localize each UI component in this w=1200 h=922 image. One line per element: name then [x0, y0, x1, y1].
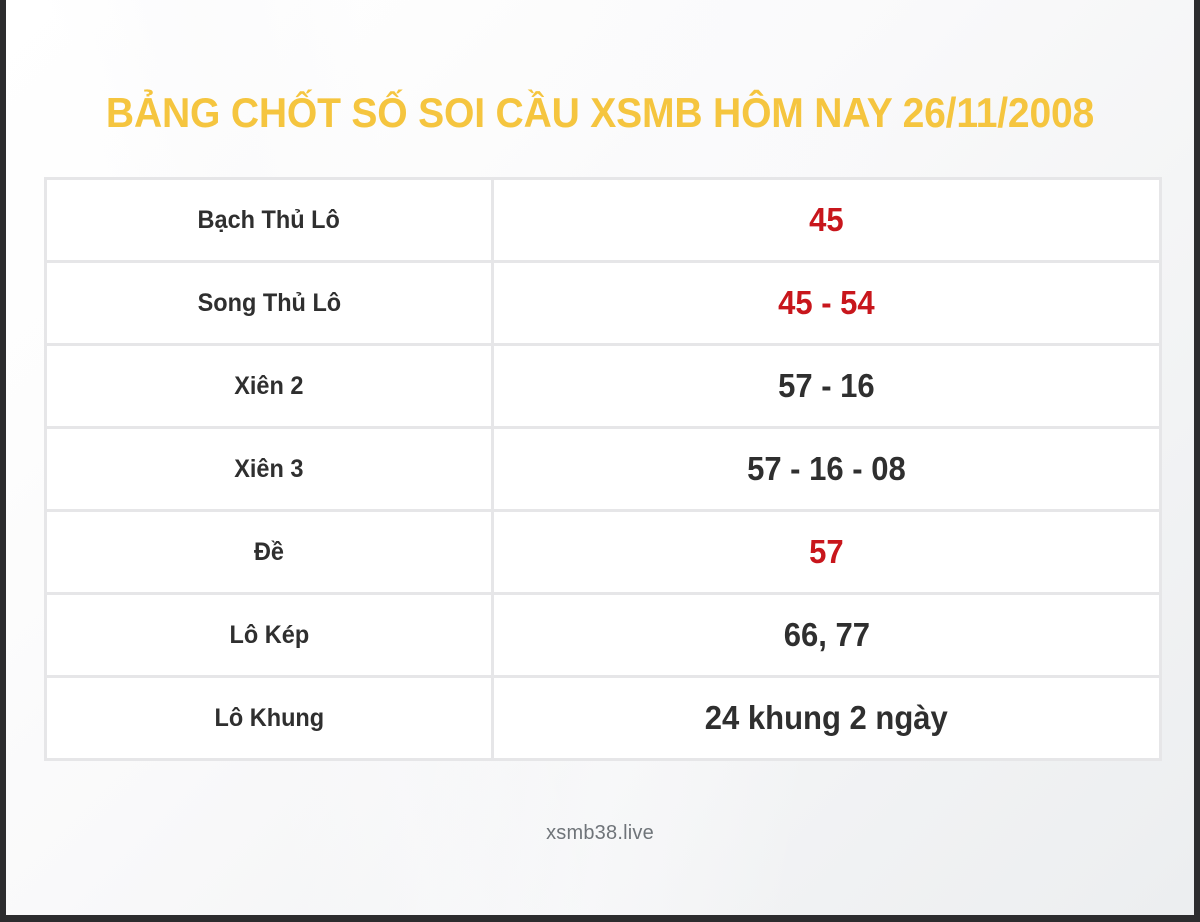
- row-label-cell: Bạch Thủ Lô: [46, 179, 493, 262]
- row-value-cell: 57 - 16 - 08: [493, 428, 1161, 511]
- row-label-cell: Đề: [46, 511, 493, 594]
- row-label: Lô Kép: [229, 621, 309, 650]
- row-label: Xiên 3: [234, 455, 303, 484]
- row-label: Bạch Thủ Lô: [198, 206, 340, 235]
- poster-frame: BẢNG CHỐT SỐ SOI CẦU XSMB HÔM NAY 26/11/…: [0, 0, 1200, 922]
- row-value: 24 khung 2 ngày: [705, 699, 948, 737]
- row-value-cell: 24 khung 2 ngày: [493, 677, 1161, 760]
- row-label: Xiên 2: [234, 372, 303, 401]
- row-value: 57 - 16: [778, 367, 875, 405]
- prediction-table-body: Bạch Thủ Lô45Song Thủ Lô45 - 54Xiên 257 …: [46, 179, 1161, 760]
- table-row: Lô Khung24 khung 2 ngày: [46, 677, 1161, 760]
- table-row: Xiên 257 - 16: [46, 345, 1161, 428]
- row-value: 57 - 16 - 08: [747, 450, 906, 488]
- table-row: Đề57: [46, 511, 1161, 594]
- row-value-cell: 57: [493, 511, 1161, 594]
- row-label-cell: Song Thủ Lô: [46, 262, 493, 345]
- row-value: 45 - 54: [778, 284, 875, 322]
- row-label: Đề: [254, 538, 284, 567]
- row-label-cell: Xiên 3: [46, 428, 493, 511]
- row-value: 57: [809, 533, 844, 571]
- row-value-cell: 45: [493, 179, 1161, 262]
- site-watermark: xsmb38.live: [6, 822, 1194, 845]
- row-label-cell: Lô Kép: [46, 594, 493, 677]
- page-title: BẢNG CHỐT SỐ SOI CẦU XSMB HÔM NAY 26/11/…: [48, 92, 1153, 134]
- table-row: Song Thủ Lô45 - 54: [46, 262, 1161, 345]
- row-value-cell: 57 - 16: [493, 345, 1161, 428]
- row-label: Lô Khung: [214, 704, 324, 733]
- row-value-cell: 45 - 54: [493, 262, 1161, 345]
- poster-content: BẢNG CHỐT SỐ SOI CẦU XSMB HÔM NAY 26/11/…: [6, 0, 1194, 915]
- row-label-cell: Xiên 2: [46, 345, 493, 428]
- row-label-cell: Lô Khung: [46, 677, 493, 760]
- row-label: Song Thủ Lô: [197, 289, 341, 318]
- row-value: 45: [809, 201, 844, 239]
- row-value: 66, 77: [783, 616, 869, 654]
- table-row: Xiên 357 - 16 - 08: [46, 428, 1161, 511]
- table-row: Bạch Thủ Lô45: [46, 179, 1161, 262]
- table-row: Lô Kép66, 77: [46, 594, 1161, 677]
- prediction-table: Bạch Thủ Lô45Song Thủ Lô45 - 54Xiên 257 …: [44, 177, 1162, 761]
- row-value-cell: 66, 77: [493, 594, 1161, 677]
